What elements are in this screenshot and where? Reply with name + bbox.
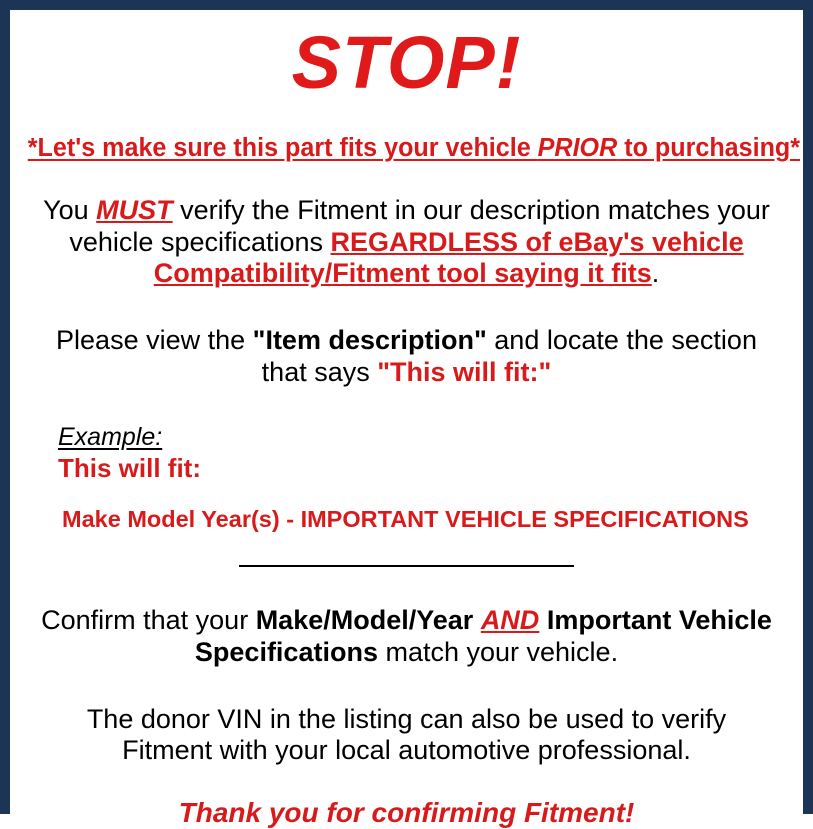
donor-vin-paragraph: The donor VIN in the listing can also be… — [22, 704, 791, 767]
example-label-row: Example: — [58, 424, 791, 452]
confirm-segment-2 — [473, 605, 481, 635]
confirm-segment-1: Confirm that your — [41, 605, 256, 635]
confirm-segment-3 — [539, 605, 547, 635]
example-label: Example: — [58, 424, 162, 452]
and-emphasis: AND — [481, 605, 540, 635]
fitment-notice-card: STOP! *Let's make sure this part fits yo… — [0, 0, 813, 814]
item-description-quote: "Item description" — [253, 325, 487, 355]
page-title: STOP! — [22, 26, 791, 100]
must-emphasis: MUST — [96, 195, 173, 225]
thank-you-message: Thank you for confirming Fitment! — [22, 797, 791, 829]
subtitle-banner: *Let's make sure this part fits your veh… — [28, 134, 785, 163]
subtitle-segment-before: *Let's make sure this part fits your veh… — [28, 134, 538, 162]
subtitle-segment-after: to purchasing* — [617, 134, 800, 162]
example-fit-heading: This will fit: — [58, 454, 791, 484]
divider-row — [22, 557, 791, 575]
must-paragraph-segment-1: You — [43, 195, 96, 225]
subtitle-emphasis-prior: PRIOR — [538, 134, 618, 162]
example-block: Example: This will fit: Make Model Year(… — [22, 424, 791, 533]
must-paragraph-segment-3: . — [652, 258, 660, 288]
item-description-paragraph: Please view the "Item description" and l… — [22, 325, 791, 388]
horizontal-rule — [239, 565, 574, 567]
this-will-fit-quote: "This will fit:" — [377, 357, 551, 387]
confirm-segment-4: match your vehicle. — [378, 637, 618, 667]
please-paragraph-segment-1: Please view the — [56, 325, 253, 355]
must-verify-paragraph: You MUST verify the Fitment in our descr… — [22, 195, 791, 289]
make-model-year-bold: Make/Model/Year — [256, 605, 474, 635]
example-spec-line: Make Model Year(s) - IMPORTANT VEHICLE S… — [58, 506, 791, 533]
confirm-paragraph: Confirm that your Make/Model/Year AND Im… — [22, 605, 791, 668]
notice-content-area: STOP! *Let's make sure this part fits yo… — [10, 26, 803, 820]
